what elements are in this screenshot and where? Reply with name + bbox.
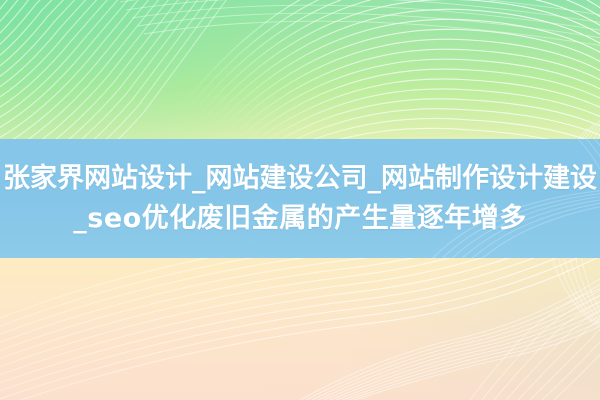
banner-image: 张家界网站设计_网站建设公司_网站制作设计建设 _seo优化废旧金属的产生量逐年… — [0, 0, 600, 400]
banner-headline: 张家界网站设计_网站建设公司_网站制作设计建设 _seo优化废旧金属的产生量逐年… — [0, 139, 600, 258]
headline-line-1: 张家界网站设计_网站建设公司_网站制作设计建设 — [3, 159, 597, 199]
headline-line-2: _seo优化废旧金属的产生量逐年增多 — [73, 199, 526, 239]
